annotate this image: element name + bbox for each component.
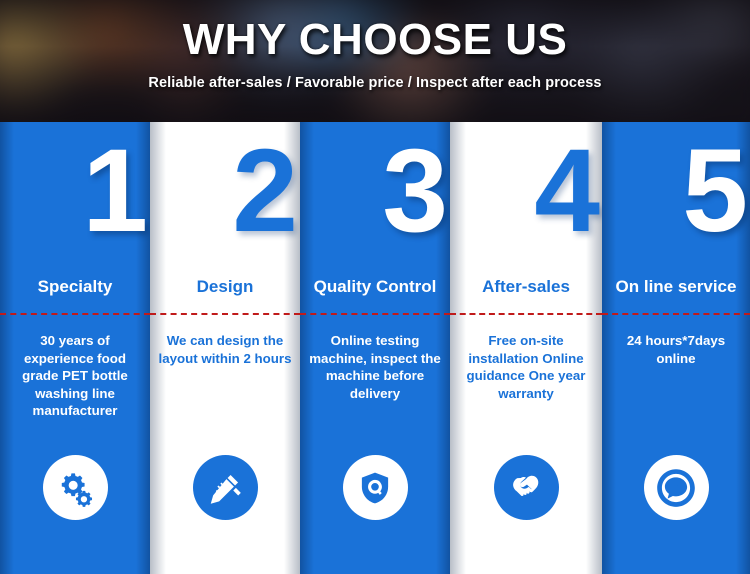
column-number: 3 [382, 132, 444, 250]
column-icon-wrap [450, 455, 602, 520]
handshake-heart-icon [494, 455, 559, 520]
dashed-divider [300, 313, 450, 315]
column-description: Online testing machine, inspect the mach… [306, 332, 444, 402]
page-title: WHY CHOOSE US [183, 18, 568, 62]
column-icon-wrap [602, 455, 750, 520]
column-description: Free on-site installation Online guidanc… [456, 332, 596, 402]
column-description: We can design the layout within 2 hours [156, 332, 294, 367]
page-subtitle: Reliable after-sales / Favorable price /… [148, 75, 601, 91]
pencil-ruler-icon [193, 455, 258, 520]
feature-column-5[interactable]: 5 On line service 24 hours*7days online [602, 122, 750, 574]
feature-column-3[interactable]: 3 Quality Control Online testing machine… [300, 122, 450, 574]
column-description: 30 years of experience food grade PET bo… [6, 332, 144, 420]
page-header: WHY CHOOSE US Reliable after-sales / Fav… [0, 0, 750, 122]
column-number: 1 [82, 132, 144, 250]
column-number: 2 [232, 132, 294, 250]
feature-column-2[interactable]: 2 Design We can design the layout within… [150, 122, 300, 574]
chat-bubble-icon [644, 455, 709, 520]
column-title: Design [150, 277, 300, 297]
feature-column-4[interactable]: 4 After-sales Free on-site installation … [450, 122, 602, 574]
column-title: After-sales [450, 277, 602, 297]
column-number: 5 [682, 132, 744, 250]
dashed-divider [450, 313, 602, 315]
column-description: 24 hours*7days online [608, 332, 744, 367]
column-icon-wrap [150, 455, 300, 520]
feature-columns: 1 Specialty 30 years of experience food … [0, 122, 750, 574]
column-title: Quality Control [300, 277, 450, 297]
gears-icon [43, 455, 108, 520]
column-icon-wrap [300, 455, 450, 520]
column-title: On line service [602, 277, 750, 297]
shield-q-icon [343, 455, 408, 520]
column-number: 4 [534, 132, 596, 250]
dashed-divider [0, 313, 150, 315]
dashed-divider [602, 313, 750, 315]
feature-column-1[interactable]: 1 Specialty 30 years of experience food … [0, 122, 150, 574]
dashed-divider [150, 313, 300, 315]
column-title: Specialty [0, 277, 150, 297]
column-icon-wrap [0, 455, 150, 520]
